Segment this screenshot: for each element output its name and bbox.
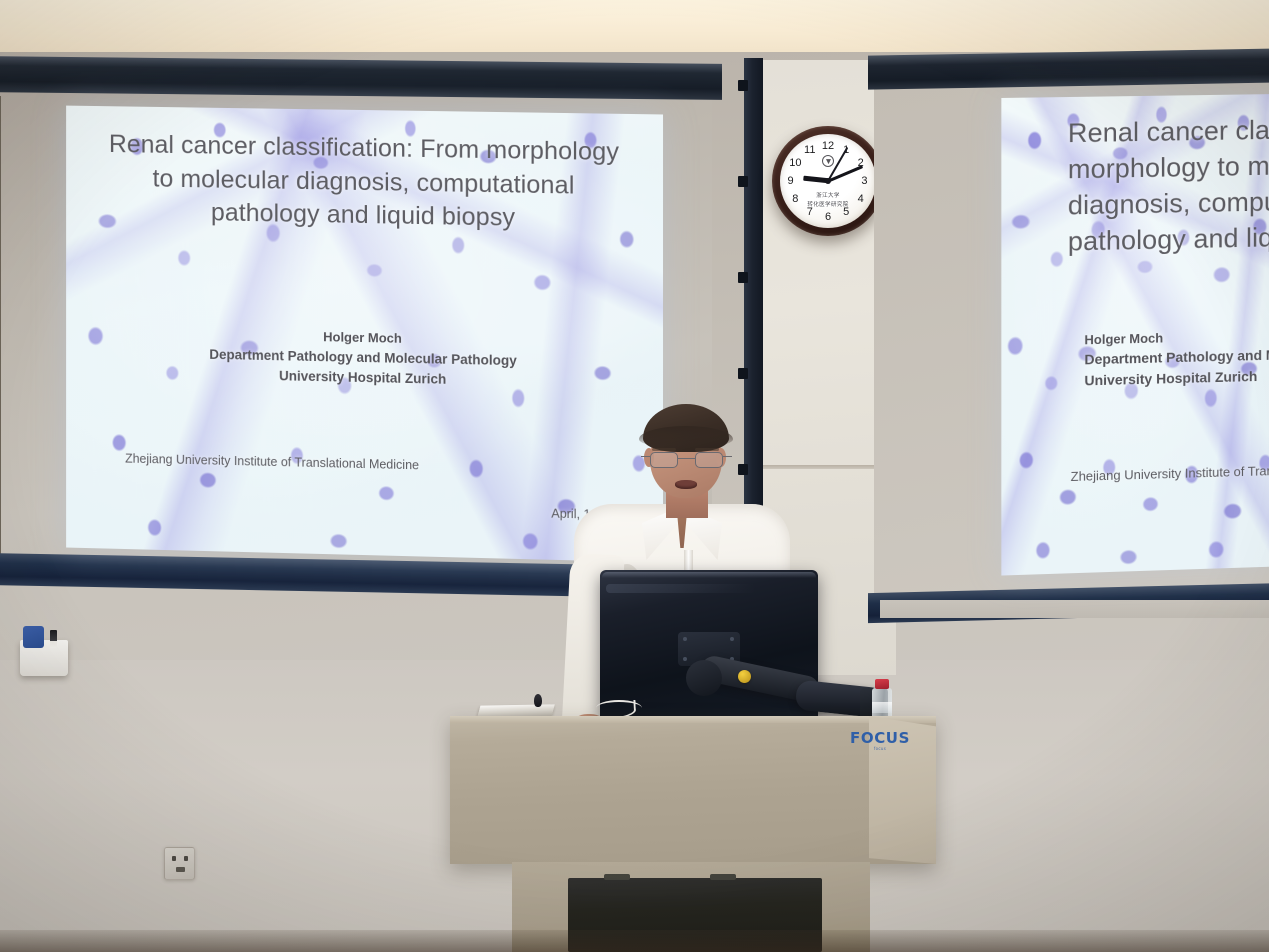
clock-number-11: 11 (804, 144, 815, 156)
podium-brand-subtext: focus (850, 747, 910, 751)
glasses-lens-right (695, 452, 723, 468)
clock-number-10: 10 (789, 157, 801, 169)
clock-brand-logo-icon (822, 155, 834, 167)
whiteboard-eraser[interactable] (23, 626, 44, 648)
presenter-mouth (675, 480, 697, 489)
podium-top: FOCUS focus (450, 716, 936, 864)
lecture-hall-scene: Renal cancer classification: From morpho… (0, 0, 1269, 952)
whiteboard-marker[interactable] (50, 630, 57, 648)
slide-title: Renal cancer classification: From morpho… (107, 128, 620, 236)
clock-brand-text: 浙江大学 转化医学研究院 (807, 192, 848, 209)
glasses-temple-left (641, 456, 650, 457)
desk-cable-secondary (596, 700, 642, 716)
presenter-glasses (650, 452, 723, 469)
podium-brand-text: FOCUS (850, 729, 910, 747)
presenter-eyebrow-left (652, 448, 676, 451)
left-whiteboard-top-frame (0, 56, 722, 100)
projected-slide-right: Renal cancer classification: From morpho… (1001, 94, 1269, 575)
slide-title-right: Renal cancer classification: From morpho… (1068, 110, 1269, 260)
monitor-arm-joint (686, 660, 722, 696)
glasses-bridge (678, 458, 695, 459)
slide-venue: Zhejiang University Institute of Transla… (125, 452, 578, 476)
power-outlet[interactable] (164, 847, 195, 880)
clock-brand-sub-cn: 转化医学研究院 (807, 202, 848, 208)
monitor-sheen (606, 584, 756, 593)
glasses-lens-left (650, 452, 678, 468)
water-bottle-label (872, 702, 892, 713)
clock-number-6: 6 (825, 211, 831, 223)
slide-author-block: Holger Moch Department Pathology and Mol… (125, 323, 603, 393)
monitor-top-bevel (602, 572, 816, 578)
clock-number-12: 12 (822, 140, 834, 152)
clock-number-4: 4 (858, 193, 864, 205)
presenter-hair (643, 404, 729, 452)
podium-top-lip (450, 716, 936, 723)
left-whiteboard-side-rail (0, 96, 1, 566)
floor-shadow (0, 930, 1269, 952)
right-wall-strip (880, 600, 1269, 618)
clock-brand-text-cn: 浙江大学 (816, 193, 840, 199)
podium-brand-logo: FOCUS focus (850, 731, 910, 751)
slide-venue-right: Zhejiang University Institute of Transla… (1071, 458, 1269, 484)
presenter-eyebrow-right (695, 448, 719, 451)
desk-microphone[interactable] (534, 694, 542, 707)
clock-number-9: 9 (787, 175, 793, 187)
clock-number-8: 8 (792, 193, 798, 205)
right-whiteboard-top-frame (868, 48, 1269, 89)
power-outlet-slot (176, 867, 185, 872)
water-bottle-cap (875, 679, 889, 689)
marker-tray (20, 640, 68, 676)
clock-center-pin (825, 178, 831, 184)
slide-author-block-right: Holger Moch Department Pathology and Mol… (1084, 322, 1269, 392)
clock-number-3: 3 (861, 175, 867, 187)
glasses-temple-right (723, 456, 732, 457)
slide-text-layer-right: Renal cancer classification: From morpho… (1001, 94, 1269, 575)
clock-face: 12 1 2 3 4 5 6 7 8 9 10 11 浙江大学 转化医学研究院 (780, 134, 876, 228)
monitor-arm-tension-knob[interactable] (738, 670, 751, 683)
